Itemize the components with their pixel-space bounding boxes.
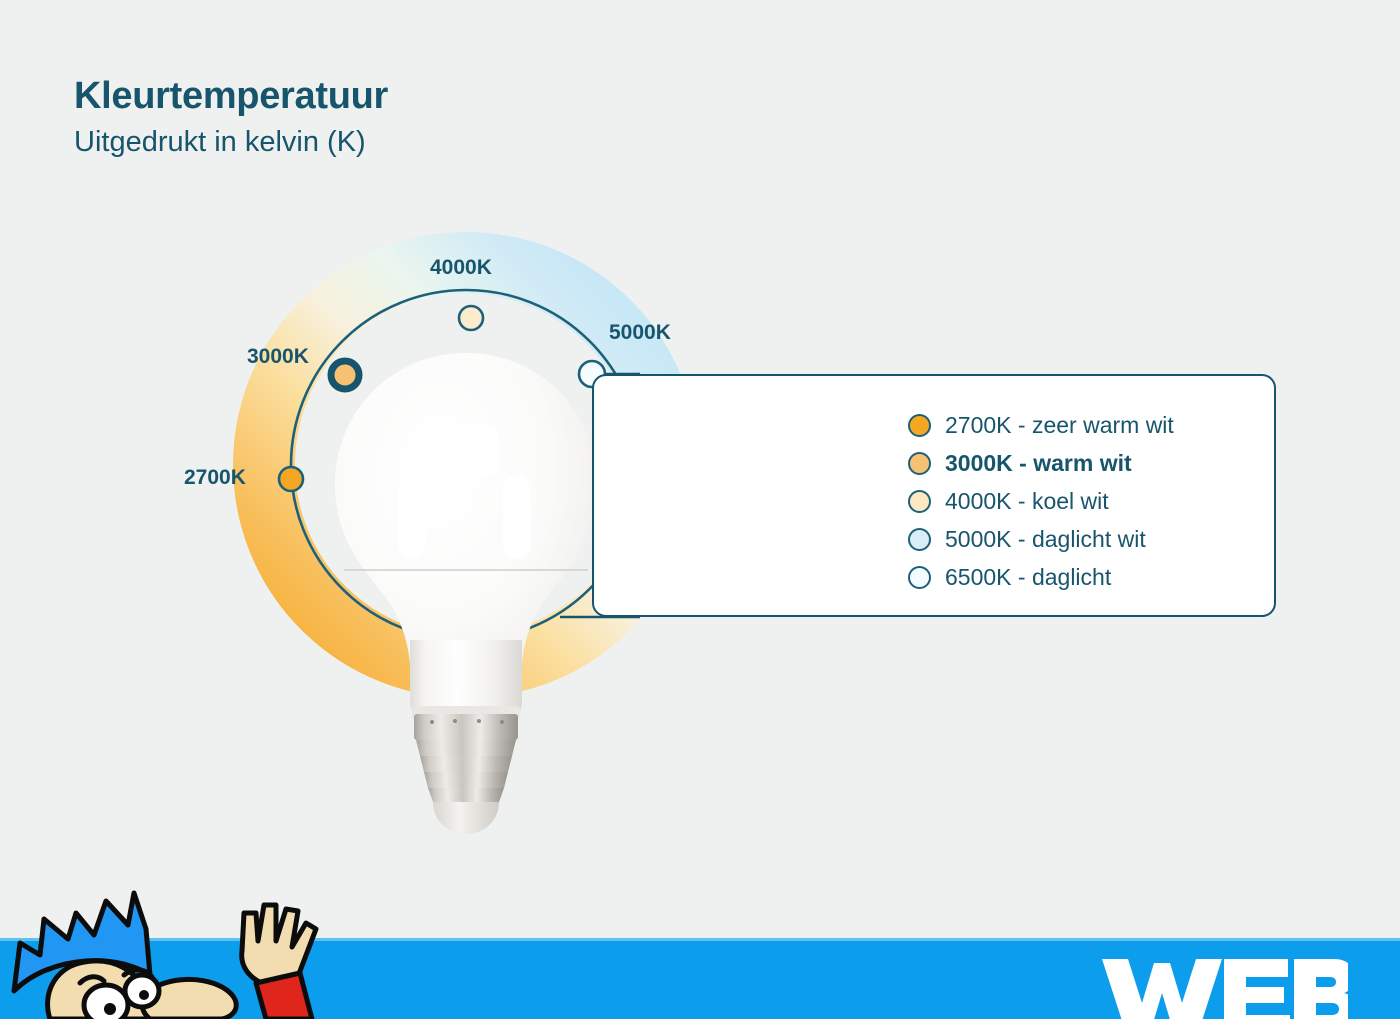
arc-marker-4000k[interactable] <box>459 306 483 330</box>
legend-dot-2700k <box>908 414 931 437</box>
legend-dot-4000k <box>908 490 931 513</box>
bulb-screw-base <box>414 714 518 834</box>
mascot-hand <box>242 905 316 986</box>
arc-label-3000k: 3000K <box>247 345 309 369</box>
mascot-pupil-left <box>104 1003 116 1015</box>
mascot-sleeve <box>256 973 312 1019</box>
legend-callout-box: 2700K - zeer warm wit 3000K - warm wit 4… <box>592 374 1276 617</box>
legend-item-5000k[interactable]: 5000K - daglicht wit <box>908 520 1174 558</box>
arc-label-5000k: 5000K <box>609 321 671 345</box>
legend-item-2700k[interactable]: 2700K - zeer warm wit <box>908 406 1174 444</box>
legend-dot-3000k <box>908 452 931 475</box>
legend-list: 2700K - zeer warm wit 3000K - warm wit 4… <box>908 406 1174 596</box>
arc-marker-3000k[interactable] <box>331 361 359 389</box>
weba-logo <box>1098 941 1348 1019</box>
legend-item-6500k[interactable]: 6500K - daglicht <box>908 558 1174 596</box>
mascot-eye-left <box>84 985 128 1019</box>
legend-dot-6500k <box>908 566 931 589</box>
light-bulb <box>335 353 597 834</box>
infographic-canvas: Kleurtemperatuur Uitgedrukt in kelvin (K… <box>0 0 1400 1019</box>
arc-label-2700k: 2700K <box>184 466 246 490</box>
bulb-highlight-top <box>455 424 499 476</box>
legend-label-6500k: 6500K - daglicht <box>945 564 1111 591</box>
legend-label-5000k: 5000K - daglicht wit <box>945 526 1146 553</box>
mascot-illustration <box>0 879 334 1019</box>
mascot-pupil-right <box>139 990 149 1000</box>
legend-item-4000k[interactable]: 4000K - koel wit <box>908 482 1174 520</box>
legend-dot-5000k <box>908 528 931 551</box>
arc-label-4000k: 4000K <box>430 256 492 280</box>
bulb-highlight-right <box>503 475 531 559</box>
legend-label-2700k: 2700K - zeer warm wit <box>945 412 1174 439</box>
footer-bar <box>0 938 1400 1019</box>
arc-marker-2700k[interactable] <box>279 467 303 491</box>
legend-label-3000k: 3000K - warm wit <box>945 450 1132 477</box>
legend-label-4000k: 4000K - koel wit <box>945 488 1109 515</box>
color-temperature-diagram: 2700K 3000K 4000K 5000K 6500K 2700K - ze… <box>0 0 1400 940</box>
bulb-highlight-left <box>398 475 426 559</box>
legend-item-3000k[interactable]: 3000K - warm wit <box>908 444 1174 482</box>
